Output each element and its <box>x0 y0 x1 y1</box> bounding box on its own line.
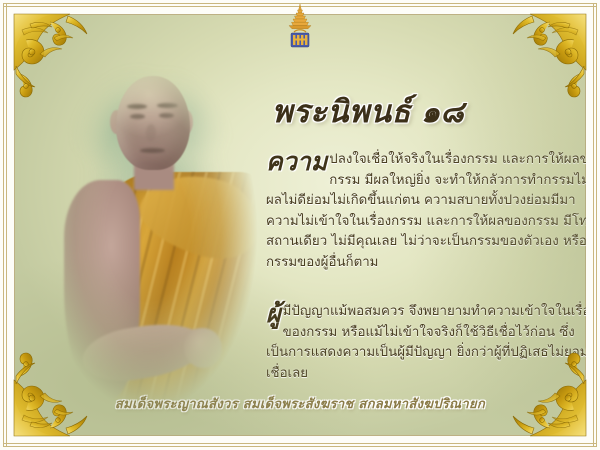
paragraph-2-body: มีปัญญาแม้พอสมควร จึงพยายามทำความเข้าใจใ… <box>266 304 586 381</box>
paragraph-2: ผู้ มีปัญญาแม้พอสมควร จึงพยายามทำความเข้… <box>266 302 586 384</box>
monk-portrait <box>20 40 276 436</box>
brow-right <box>157 103 178 108</box>
nose <box>146 124 156 142</box>
mouth <box>140 148 165 153</box>
signature-line: สมเด็จพระญาณสังวร สมเด็จพระสังฆราช สกลมห… <box>14 393 586 414</box>
gold-rule-top <box>3 3 597 4</box>
paragraph-1-dropcap: ความ <box>266 151 327 173</box>
robe-drape <box>132 161 269 269</box>
paragraph-1: ความ ปลงใจเชื่อให้จริงในเรื่องกรรม และกา… <box>266 150 586 274</box>
teaching-card: พระนิพนธ์๑๘ ความ ปลงใจเชื่อให้จริงในเรื่… <box>0 0 600 450</box>
neck <box>134 160 174 190</box>
gold-rule-top-2 <box>3 6 597 7</box>
gold-rule-bottom-2 <box>3 443 597 444</box>
title-number: ๑๘ <box>421 95 464 130</box>
ear-right <box>180 110 193 134</box>
eye-left <box>130 114 145 119</box>
paragraph-2-dropcap: ผู้ <box>266 303 281 325</box>
portrait-backdrop <box>48 50 248 300</box>
gold-rule-bottom <box>3 446 597 447</box>
bare-arm <box>64 180 140 400</box>
brow-left <box>127 104 147 109</box>
page-title: พระนิพนธ์๑๘ <box>272 86 572 136</box>
gold-rule-right <box>596 3 597 447</box>
head <box>116 76 190 170</box>
gold-rule-left-2 <box>6 3 7 447</box>
forearm <box>79 317 211 388</box>
hand <box>184 328 222 368</box>
title-text: พระนิพนธ์ <box>272 94 411 130</box>
eye-right <box>159 113 174 118</box>
inner-panel: พระนิพนธ์๑๘ ความ ปลงใจเชื่อให้จริงในเรื่… <box>14 14 586 436</box>
gold-rule-right-2 <box>593 3 594 447</box>
ear-left <box>110 110 123 134</box>
gold-rule-left <box>3 3 4 447</box>
